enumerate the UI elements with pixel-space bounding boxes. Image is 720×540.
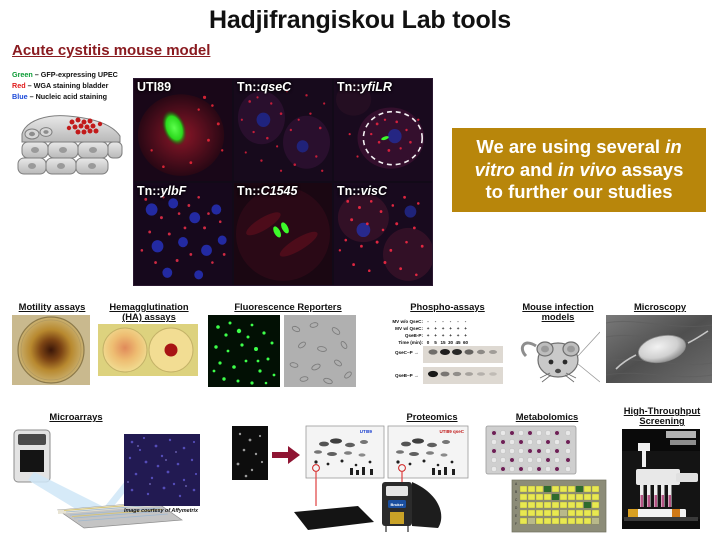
caption-microarrays: Microarrays <box>6 412 146 422</box>
callout-italic-invivo: in vivo <box>558 159 617 180</box>
panel-motility-assays: Motility assays <box>12 302 92 385</box>
section-heading-mouse-model: Acute cystitis mouse model <box>12 42 210 59</box>
gel-label-right: UTI89 qseC <box>439 429 464 434</box>
phase-contrast-image[interactable] <box>284 315 356 387</box>
caption-fluorescence-reporters: Fluorescence Reporters <box>208 302 368 312</box>
micrograph-label-yfilr: Tn::yfiLR <box>337 80 392 94</box>
gel-label-left: UTI89 <box>360 429 373 434</box>
panel-microscopy: Microscopy <box>606 302 714 383</box>
microarray-credit: Image courtesy of Affymetrix <box>124 508 198 514</box>
page-title: Hadjifrangiskou Lab tools <box>0 6 720 35</box>
instrument-label: Bruker <box>391 502 404 507</box>
callout-box: We are using several in vitro and in viv… <box>452 128 706 212</box>
svg-text:B: B <box>515 490 517 494</box>
micrograph-label-ylbf: Tn::ylbF <box>137 184 186 198</box>
micrograph-panel-ylbf[interactable]: Tn::ylbF <box>134 183 232 285</box>
slide-canvas: Hadjifrangiskou Lab tools Acute cystitis… <box>0 0 720 540</box>
sem-micrograph-image[interactable] <box>606 315 712 383</box>
micrograph-panel-qsec[interactable]: Tn::qseC <box>234 79 332 181</box>
phospho-band-label-qseb: QseB~P → <box>395 372 419 379</box>
panel-phospho-assays: Phospho-assays MV w/o QseC: ------ MV w/… <box>390 302 505 388</box>
legend-text-blue: – Nucleic acid staining <box>30 92 108 101</box>
ha-assay-image[interactable] <box>98 324 198 376</box>
legend-item-blue: Blue – Nucleic acid staining <box>12 92 118 103</box>
panel-mouse-infection-models: Mouse infectionmodels <box>508 302 608 384</box>
callout-text-and: and <box>515 159 558 180</box>
caption-metabolomics: Metabolomics <box>484 412 610 422</box>
micrograph-panel-yfilr[interactable]: Tn::yfiLR <box>334 79 432 181</box>
callout-italic-in: in <box>665 136 681 157</box>
panel-microarrays: Microarrays <box>6 412 226 534</box>
legend-text-red: – WGA staining bladder <box>28 81 109 90</box>
svg-text:F: F <box>515 522 517 526</box>
callout-italic-vitro: vitro <box>475 159 515 180</box>
bladder-epithelium-diagram <box>8 108 130 180</box>
callout-text-assays: assays <box>617 159 684 180</box>
micrograph-label-visc: Tn::visC <box>337 184 387 198</box>
callout-text-1: We are using several <box>476 136 665 157</box>
caption-ha-assays: Hemagglutination(HA) assays <box>98 302 200 322</box>
micrograph-label-qsec: Tn::qseC <box>237 80 291 94</box>
phospho-condition-table: MV w/o QseC: ------ MV w/ QseC: ++++++ Q… <box>392 318 469 346</box>
mouse-illustration[interactable] <box>514 326 600 384</box>
micrograph-grid: UTI89 Tn::qseC <box>133 78 433 286</box>
caption-motility-assays: Motility assays <box>12 302 92 312</box>
panel-metabolomics: Metabolomics <box>484 412 610 534</box>
micrograph-panel-c1545[interactable]: Tn::C1545 <box>234 183 332 285</box>
legend-key-red: Red <box>12 81 26 90</box>
svg-text:E: E <box>515 514 517 518</box>
caption-phospho-assays: Phospho-assays <box>390 302 505 312</box>
caption-microscopy: Microscopy <box>606 302 714 312</box>
legend-key-blue: Blue <box>12 92 28 101</box>
phospho-blot-image[interactable]: MV w/o QseC: ------ MV w/ QseC: ++++++ Q… <box>390 316 505 388</box>
phospho-band-label-qsec: QseC~P → <box>395 349 419 356</box>
legend-key-green: Green <box>12 70 33 79</box>
legend-item-green: Green – GFP-expressing UPEC <box>12 70 118 81</box>
legend-item-red: Red – WGA staining bladder <box>12 81 118 92</box>
panel-high-throughput-screening: High-ThroughputScreening <box>608 406 716 529</box>
callout-text-3: to further our studies <box>485 181 672 202</box>
micrograph-label-uti89: UTI89 <box>137 80 171 94</box>
hts-robot-image[interactable] <box>622 429 700 529</box>
microarray-diagram[interactable] <box>6 424 226 534</box>
micrograph-label-c1545: Tn::C1545 <box>237 184 297 198</box>
staining-legend: Green – GFP-expressing UPEC Red – WGA st… <box>12 70 118 103</box>
legend-text-green: – GFP-expressing UPEC <box>35 70 118 79</box>
gfp-fluorescence-image[interactable] <box>208 315 280 387</box>
caption-mouse-infection-models: Mouse infectionmodels <box>508 302 608 322</box>
proteomics-diagram[interactable]: UTI89 UTI89 qseC <box>232 424 482 536</box>
motility-plate-image[interactable] <box>12 315 90 385</box>
micrograph-panel-uti89[interactable]: UTI89 <box>134 79 232 181</box>
micrograph-panel-visc[interactable]: Tn::visC <box>334 183 432 285</box>
panel-fluorescence-reporters: Fluorescence Reporters <box>208 302 368 387</box>
metabolomics-plates[interactable]: ABC DEF <box>484 424 608 534</box>
phospho-blot-bands <box>423 346 503 386</box>
panel-proteomics: Proteomics UTI89 <box>232 412 482 536</box>
caption-hts: High-ThroughputScreening <box>608 406 716 426</box>
panel-hemagglutination-assays: Hemagglutination(HA) assays <box>98 302 200 376</box>
